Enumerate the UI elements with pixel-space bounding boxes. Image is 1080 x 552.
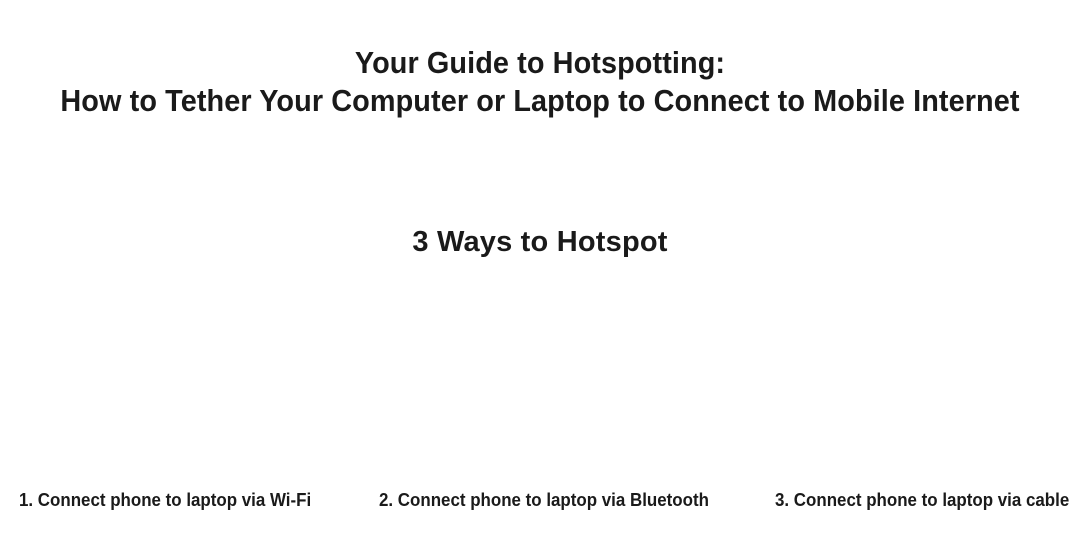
method-illustration-2: [360, 272, 720, 478]
method-illustration-3: [720, 272, 1080, 478]
method-caption-1: 1. Connect phone to laptop via Wi-Fi: [19, 487, 311, 513]
page-title-line-2: How to Tether Your Computer or Laptop to…: [38, 82, 1042, 120]
page-title: Your Guide to Hotspotting: How to Tether…: [38, 44, 1042, 120]
method-captions: 1. Connect phone to laptop via Wi-Fi 2. …: [0, 487, 1080, 517]
page-title-line-1: Your Guide to Hotspotting:: [38, 44, 1042, 82]
method-caption-2: 2. Connect phone to laptop via Bluetooth: [379, 487, 709, 513]
method-illustration-1: [0, 272, 360, 478]
section-heading: 3 Ways to Hotspot: [0, 224, 1080, 260]
method-caption-3: 3. Connect phone to laptop via cable: [775, 487, 1069, 513]
infographic-canvas: Your Guide to Hotspotting: How to Tether…: [0, 0, 1080, 552]
method-illustrations-band: [0, 272, 1080, 478]
